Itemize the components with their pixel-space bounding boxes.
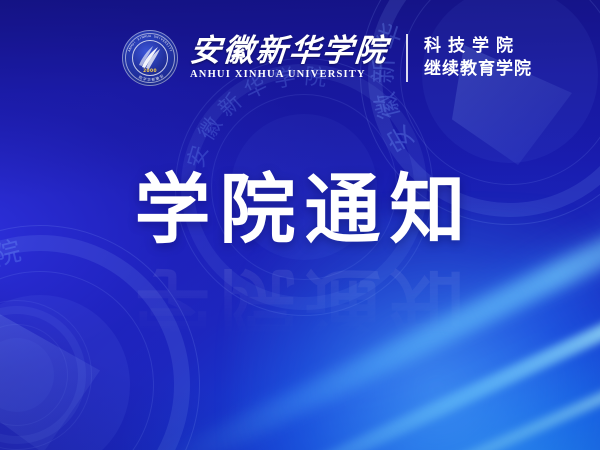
university-name-cn: 安徽新华学院 <box>189 35 390 68</box>
university-name-en: ANHUI XINHUA UNIVERSITY <box>190 70 388 81</box>
sub-college-line-1: 科技学院 <box>424 38 532 55</box>
brand-lockup: ANHUI XINHUA UNIVERSITY安徽新华学院 2000 安徽新华学… <box>122 28 532 88</box>
main-title: 学院通知 <box>0 172 600 248</box>
logo-arc-text: ANHUI XINHUA UNIVERSITY安徽新华学院 <box>122 30 178 86</box>
logo-year-label: 2000 <box>122 69 178 74</box>
sub-college-line-2: 继续教育学院 <box>424 61 532 78</box>
notice-poster: 安徽新华学院 安徽新华 院科技学院 学院通知 <box>0 0 600 450</box>
university-name-block: 安徽新华学院 ANHUI XINHUA UNIVERSITY <box>190 35 388 80</box>
brand-divider <box>406 34 408 82</box>
sub-college-block: 科技学院 继续教育学院 <box>424 38 532 78</box>
university-seal-icon: ANHUI XINHUA UNIVERSITY安徽新华学院 2000 <box>122 30 178 86</box>
